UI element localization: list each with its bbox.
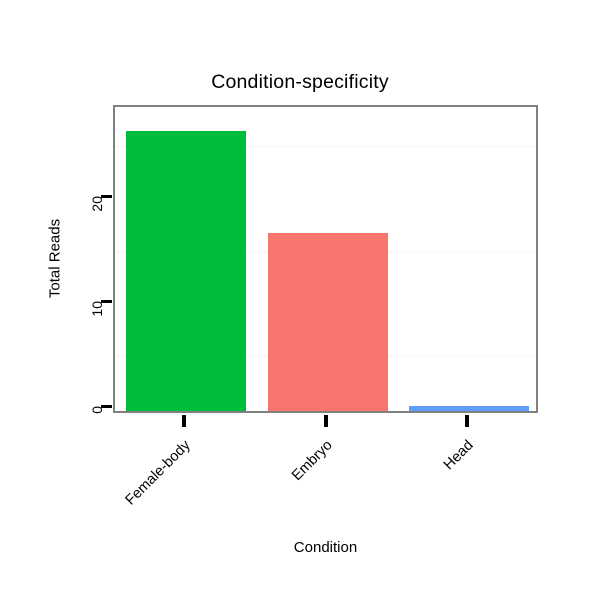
x-tick-label: Embryo: [182, 437, 335, 590]
plot-panel: [113, 105, 538, 413]
y-tick-label: 20: [89, 196, 105, 236]
x-tick-mark: [182, 415, 186, 427]
x-tick-mark: [324, 415, 328, 427]
x-axis-title: Condition: [0, 539, 600, 556]
chart-title: Condition-specificity: [0, 71, 600, 94]
bar-female-body[interactable]: [126, 131, 246, 413]
chart-canvas: Condition-specificity 01020Total Reads F…: [0, 0, 600, 600]
y-axis-title: Total Reads: [47, 204, 64, 314]
bar-head[interactable]: [409, 406, 529, 414]
x-tick-label: Female-body: [41, 437, 194, 590]
y-tick-label: 10: [89, 301, 105, 341]
x-tick-mark: [465, 415, 469, 427]
x-tick-label: Head: [324, 437, 477, 590]
bar-embryo[interactable]: [268, 233, 388, 413]
y-tick-label: 0: [89, 406, 105, 446]
